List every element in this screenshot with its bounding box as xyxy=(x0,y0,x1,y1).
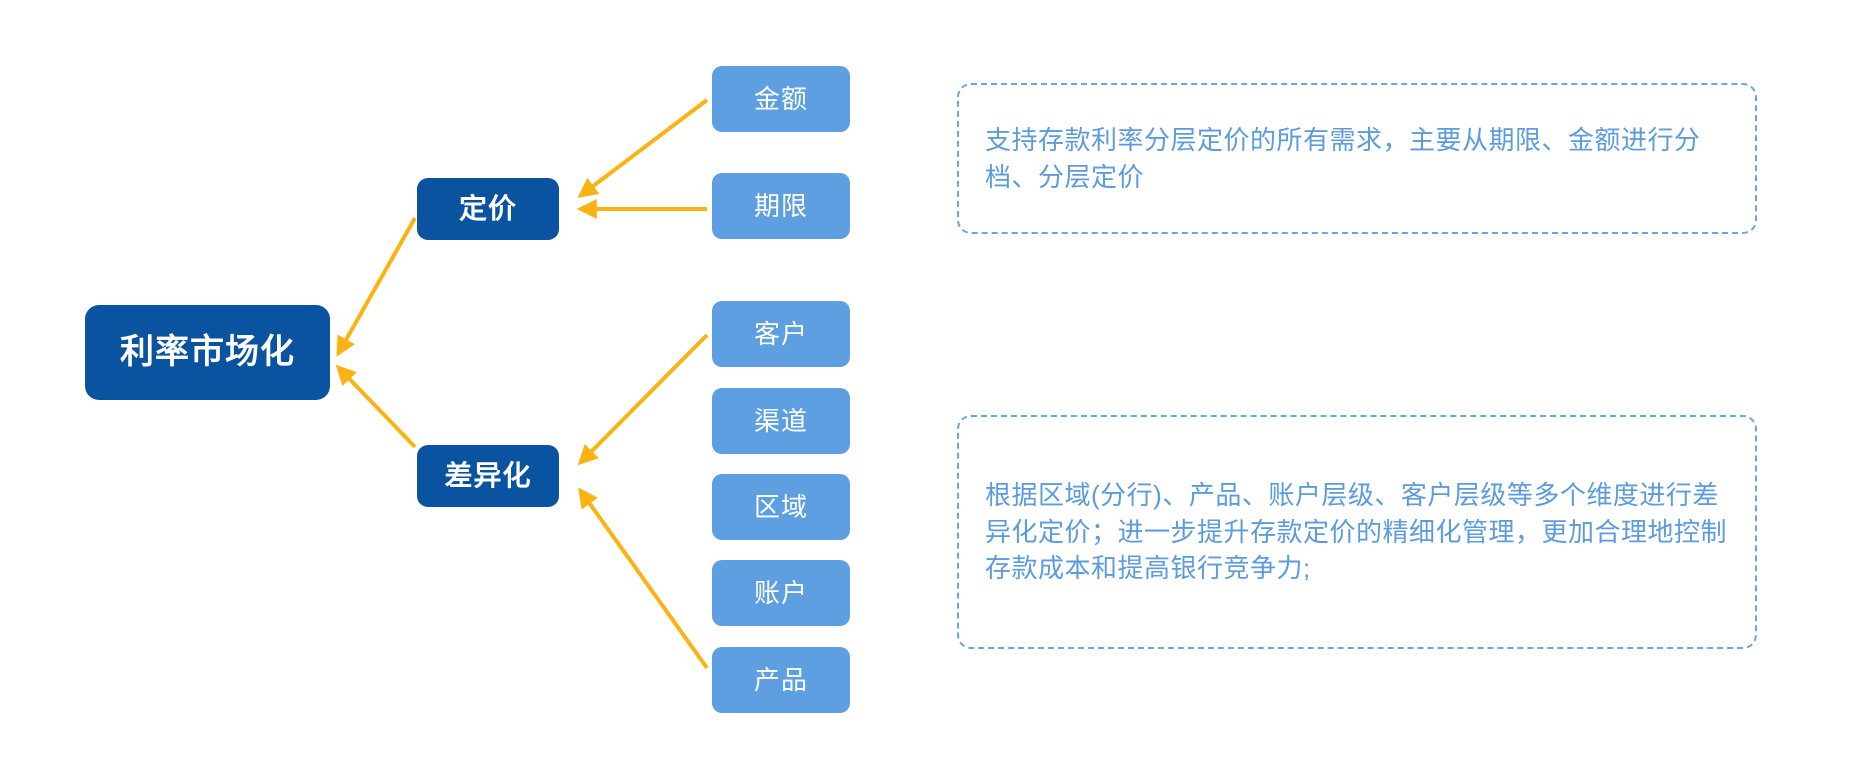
node-leaf-account-label: 账户 xyxy=(754,579,808,608)
node-leaf-customer-label: 客户 xyxy=(754,320,808,349)
callout-pricing: 支持存款利率分层定价的所有需求，主要从期限、金额进行分档、分层定价 xyxy=(957,83,1757,234)
node-branch-pricing[interactable]: 定价 xyxy=(417,178,559,240)
connector-product-to-differentiation xyxy=(580,490,707,668)
callout-differentiation-text: 根据区域(分行)、产品、账户层级、客户层级等多个维度进行差异化定价；进一步提升存… xyxy=(985,477,1729,588)
node-leaf-region-label: 区域 xyxy=(754,493,808,522)
connector-differentiation-to-root xyxy=(338,367,415,447)
connector-amount-to-pricing xyxy=(580,100,707,196)
node-branch-pricing-label: 定价 xyxy=(459,194,517,225)
node-leaf-term[interactable]: 期限 xyxy=(712,173,850,239)
node-branch-differentiation[interactable]: 差异化 xyxy=(417,445,559,507)
node-leaf-amount-label: 金额 xyxy=(754,85,808,114)
callout-differentiation: 根据区域(分行)、产品、账户层级、客户层级等多个维度进行差异化定价；进一步提升存… xyxy=(957,415,1757,649)
node-leaf-account[interactable]: 账户 xyxy=(712,560,850,626)
node-root-label: 利率市场化 xyxy=(120,334,295,371)
connector-pricing-to-root xyxy=(338,218,415,354)
node-root-interest-rate-liberalization[interactable]: 利率市场化 xyxy=(85,305,330,400)
node-leaf-region[interactable]: 区域 xyxy=(712,474,850,540)
node-leaf-customer[interactable]: 客户 xyxy=(712,301,850,367)
callout-pricing-text: 支持存款利率分层定价的所有需求，主要从期限、金额进行分档、分层定价 xyxy=(985,122,1729,196)
node-leaf-channel-label: 渠道 xyxy=(754,407,808,436)
node-branch-differentiation-label: 差异化 xyxy=(444,461,531,492)
node-leaf-term-label: 期限 xyxy=(754,192,808,221)
node-leaf-product-label: 产品 xyxy=(754,666,808,695)
connector-customer-to-differentiation xyxy=(580,335,707,463)
node-leaf-channel[interactable]: 渠道 xyxy=(712,388,850,454)
node-leaf-product[interactable]: 产品 xyxy=(712,647,850,713)
diagram-canvas: 利率市场化 定价 差异化 金额 期限 客户 渠道 区域 账户 产品 支持存款利率… xyxy=(0,0,1876,778)
node-leaf-amount[interactable]: 金额 xyxy=(712,66,850,132)
